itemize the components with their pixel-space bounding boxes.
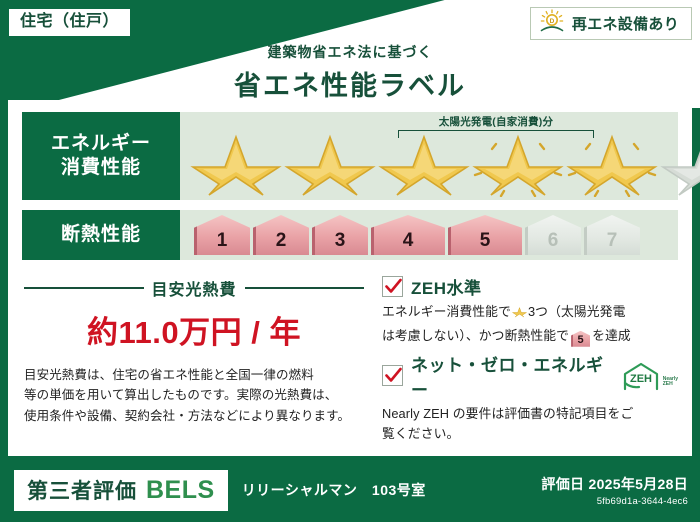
energy-performance-body: 太陽光発電(自家消費)分 (180, 112, 700, 200)
energy-cost-value: 約11.0万円 / 年 (24, 307, 364, 352)
checkbox-net-zero-energy[interactable] (382, 365, 403, 386)
label-card: エネルギー 消費性能 太陽光発電(自家消費)分 (8, 100, 692, 456)
star-filled-solar-5 (566, 131, 658, 197)
check-body-nze-line2: 覧ください。 (382, 424, 678, 445)
check-head-zeh-level: ZEH水準 (382, 274, 678, 299)
check-title-zeh-level: ZEH水準 (411, 274, 482, 299)
energy-performance-label-line2: 消費性能 (61, 156, 141, 180)
check-body-zeh-part2: （太陽光発電 (548, 304, 625, 319)
svg-text:D: D (550, 18, 555, 25)
checkbox-zeh-level[interactable] (382, 276, 403, 297)
star-filled-2 (284, 131, 376, 197)
insulation-performance-body: 1 2 3 4 5 6 7 (180, 210, 678, 260)
check-body-zeh-level: エネルギー消費性能で3つ（太陽光発電は考慮しない）、かつ断熱性能で5を達成 (382, 302, 678, 347)
check-body-zeh-part3: は考慮しない）、かつ断熱性能で (382, 328, 569, 343)
solar-annotation-label: 太陽光発電(自家消費)分 (398, 114, 594, 129)
energy-performance-label-line1: エネルギー (51, 132, 151, 156)
star-filled-3 (378, 131, 470, 197)
insulation-grade-4: 4 (371, 215, 445, 255)
star-filled-solar-4 (472, 131, 564, 197)
svg-text:ZEH: ZEH (630, 373, 652, 385)
insulation-grade-7-value: 7 (607, 230, 618, 252)
insulation-grade-1-value: 1 (217, 230, 228, 252)
check-body-zeh-part4: を達成 (592, 328, 631, 343)
heading-rule-left (24, 287, 144, 289)
check-title-net-zero-energy: ネット・ゼロ・エネルギー (411, 351, 609, 401)
inline-grade-value: 5 (577, 334, 583, 346)
inline-grade-badge: 5 (571, 331, 590, 347)
star-empty-6 (660, 131, 700, 197)
bels-en-label: BELS (146, 476, 215, 505)
zeh-logo-sub: Nearly ZEH (663, 377, 678, 391)
zeh-house-logo: ZEH Nearly ZEH (621, 361, 678, 391)
label-subtitle: 建築物省エネ法に基づく (0, 42, 700, 62)
check-body-nze-line1: Nearly ZEH の要件は評価書の特記項目をご (382, 404, 678, 425)
inline-star-icon (512, 305, 527, 326)
energy-cost-note: 目安光熱費は、住宅の省エネ性能と全国一律の燃料 等の単価を用いて算出したものです… (24, 365, 364, 426)
heading-rule-right (245, 287, 365, 289)
insulation-grade-scale: 1 2 3 4 5 6 7 (180, 215, 640, 255)
insulation-grade-6-value: 6 (548, 230, 559, 252)
energy-star-rating (180, 131, 700, 197)
check-body-zeh-star-count: 3つ (528, 304, 548, 319)
evaluation-info: 評価日 2025年5月28日 5fb69d1a-3644-4ec6 (541, 474, 688, 507)
insulation-grade-7: 7 (584, 215, 640, 255)
renewable-energy-badge: D 再エネ設備あり (530, 7, 692, 40)
insulation-grade-2: 2 (253, 215, 309, 255)
insulation-grade-3-value: 3 (335, 230, 346, 252)
energy-performance-label: 住宅（住戸） D 再エネ設備あり 建築物省エネ法に基づく (0, 0, 700, 522)
insulation-performance-label: 断熱性能 (22, 210, 180, 260)
insulation-grade-1: 1 (194, 215, 250, 255)
check-item-zeh-level: ZEH水準 エネルギー消費性能で3つ（太陽光発電は考慮しない）、かつ断熱性能で5… (382, 274, 678, 347)
check-body-net-zero-energy: Nearly ZEH の要件は評価書の特記項目をご 覧ください。 (382, 404, 678, 445)
energy-cost-note-line2: 等の単価を用いて算出したものです。実際の光熱費は、 (24, 385, 364, 405)
star-filled-1 (190, 131, 282, 197)
energy-performance-row: エネルギー 消費性能 太陽光発電(自家消費)分 (20, 110, 680, 202)
insulation-grade-5: 5 (448, 215, 522, 255)
insulation-grade-3: 3 (312, 215, 368, 255)
insulation-grade-5-value: 5 (480, 230, 491, 252)
energy-cost-note-line3: 使用条件や設備、契約会社・方法などにより異なります。 (24, 406, 364, 426)
lower-section: 目安光熱費 約11.0万円 / 年 目安光熱費は、住宅の省エネ性能と全国一律の燃… (20, 272, 680, 448)
building-name: リリーシャルマン 103号室 (242, 480, 426, 500)
evaluation-date: 評価日 2025年5月28日 (541, 474, 688, 494)
certification-checks: ZEH水準 エネルギー消費性能で3つ（太陽光発電は考慮しない）、かつ断熱性能で5… (370, 272, 680, 448)
energy-cost-note-line1: 目安光熱費は、住宅の省エネ性能と全国一律の燃料 (24, 365, 364, 385)
energy-performance-label: エネルギー 消費性能 (22, 112, 180, 200)
insulation-grade-4-value: 4 (403, 230, 414, 252)
insulation-grade-6: 6 (525, 215, 581, 255)
evaluation-uid: 5fb69d1a-3644-4ec6 (541, 496, 688, 507)
zeh-logo-sub-line2: ZEH (663, 381, 673, 387)
label-title-block: 建築物省エネ法に基づく 省エネ性能ラベル (0, 42, 700, 103)
energy-cost-heading: 目安光熱費 (24, 276, 364, 300)
energy-cost-section: 目安光熱費 約11.0万円 / 年 目安光熱費は、住宅の省エネ性能と全国一律の燃… (20, 272, 370, 448)
check-item-net-zero-energy: ネット・ゼロ・エネルギー ZEH Nearly ZEH (382, 351, 678, 445)
energy-cost-heading-label: 目安光熱費 (152, 276, 237, 300)
sun-renewable-icon: D (539, 9, 565, 38)
renewable-energy-badge-label: 再エネ設備あり (572, 13, 679, 34)
insulation-performance-row: 断熱性能 1 2 3 4 5 6 7 (20, 208, 680, 262)
check-head-net-zero-energy: ネット・ゼロ・エネルギー ZEH Nearly ZEH (382, 351, 678, 401)
bels-plate: 第三者評価 BELS (14, 470, 228, 511)
check-body-zeh-part1: エネルギー消費性能で (382, 304, 511, 319)
label-title: 省エネ性能ラベル (0, 64, 700, 103)
document-type-tag: 住宅（住戸） (7, 7, 132, 38)
insulation-grade-2-value: 2 (276, 230, 287, 252)
bels-jp-label: 第三者評価 (27, 475, 137, 505)
label-footer: 第三者評価 BELS リリーシャルマン 103号室 評価日 2025年5月28日… (0, 458, 700, 522)
